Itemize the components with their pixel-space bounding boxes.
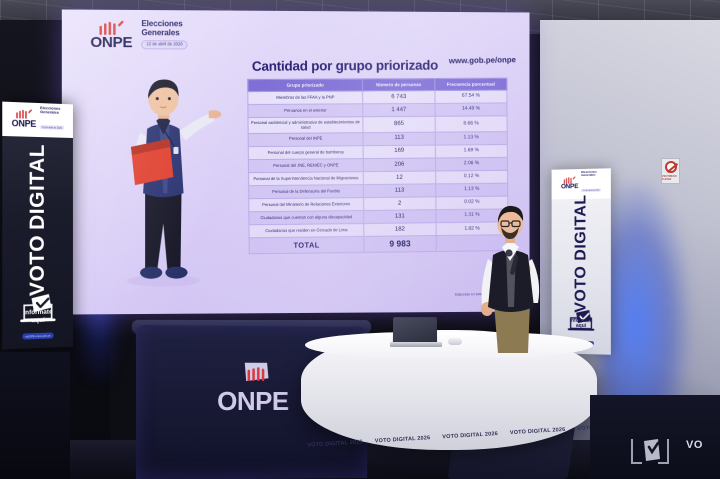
banner-left-vertical-text: VOTO DIGITAL [2,154,73,286]
blue-light-glow-right [600,180,690,420]
banner-left-footer: Infórmate aquí eg2026.onpe.gob.pe [2,308,73,343]
cell-group: Personal del INPE [248,133,363,147]
cell-count: 113 [363,184,436,198]
cell-count: 865 [363,116,436,132]
dark-panel-right: VO [590,395,720,479]
rollup-banner-right: ONPE Elecciones Generales 12 de abril de… [552,168,611,354]
slide-header-date-badge: 12 de abril de 2026 [141,40,187,50]
slide-header-text: Elecciones Generales 12 de abril de 2026 [141,20,187,50]
cell-pct: 2.06 % [435,157,507,171]
ballot-box-icon [628,433,676,467]
cell-count: 206 [363,158,436,172]
no-smoking-sign: PROHIBIDO FUMAR [661,158,680,184]
slide-title: Cantidad por grupo priorizado [252,58,438,74]
banner-left-url: eg2026.onpe.gob.pe [22,332,53,339]
banner-right-wordmark: ONPE [561,184,578,191]
slide-url: www.gob.pe/onpe [449,55,516,65]
banner-right-line2: Generales [581,174,601,178]
no-smoking-label: PROHIBIDO FUMAR [662,175,679,181]
banner-left-cta-line2: aquí [2,316,73,326]
cell-count: 113 [363,132,436,146]
cell-total-label: TOTAL [249,237,364,254]
no-smoking-icon [665,161,677,173]
onpe-worker-illustration [107,72,228,289]
banner-left-word-voto: VOTO [28,235,48,296]
cell-group: Personal del Ministerio de Relaciones Ex… [249,198,364,212]
table-band-text: VOTO DIGITAL 2026 [307,439,363,448]
col-header-count: Número de personas [362,78,434,90]
cell-count: 1 447 [363,103,436,116]
cell-pct: 67.54 % [435,90,507,103]
dark-box-left [0,352,70,479]
onpe-hand-icon [232,362,274,386]
table-band-text: VOTO DIGITAL 2026 [375,435,431,444]
podium-wordmark: ONPE [217,388,288,414]
cell-group: Personal del JNE, RENIEC y ONPE [248,159,363,173]
banner-right-cta-line2: aquí [552,324,611,331]
table-band-text: VOTO DIGITAL 2026 [442,431,498,440]
speaker-person [468,203,554,353]
cell-pct: 8.66 % [435,116,507,132]
cell-count: 2 [363,197,436,211]
cell-group: Personal de la Defensoría del Pueblo [249,185,364,199]
cell-group: Personal asistencial y administrativo de… [248,117,363,133]
banner-right-date: 12 de abril de 2026 [581,189,601,192]
cell-group: Personal del cuerpo general de bomberos [248,146,363,160]
rollup-banner-left: ONPE Elecciones Generales 12 de abril de… [2,102,73,350]
cell-count: 182 [364,223,437,237]
cell-group: Miembros de las FFAA y la PNP [248,91,363,105]
cell-count: 131 [363,210,436,224]
cell-pct: 1.13 % [435,131,507,145]
cell-pct: 14.49 % [435,103,507,116]
scene-root: PROHIBIDO FUMAR ONPE Elecciones Ge [0,0,720,479]
table-band-text: VOTO DIGITAL 2026 [510,427,566,436]
cell-count: 169 [363,145,436,159]
slide-brand-header: ONPE Elecciones Generales 12 de abril de… [90,20,187,51]
banner-left-word-digital: DIGITAL [28,144,48,230]
mouse-device[interactable] [448,338,462,345]
col-header-group: Grupo priorizado [248,79,363,92]
dark-panel-text: VO [686,439,703,451]
banner-left-date: 12 de abril de 2026 [40,125,64,130]
banner-right-vertical-text: VOTO DIGITAL [552,205,611,304]
cell-pct: 0.12 % [436,170,508,184]
cell-group: Ciudadanos que cuentan con alguna discap… [249,211,364,225]
slide-header-line2: Generales [141,29,187,38]
laptop-device[interactable] [390,317,442,349]
banner-left-header: ONPE Elecciones Generales 12 de abril de… [2,102,73,138]
banner-right-word-digital: DIGITAL [574,195,589,261]
banner-left-wordmark: ONPE [12,119,36,129]
onpe-logo: ONPE [90,20,132,50]
banner-left-line2: Generales [40,110,64,115]
cell-pct: 1.13 % [436,183,508,197]
laptop-base [390,342,442,347]
cell-pct: 1.69 % [435,144,507,158]
cell-group: Personal de la Superintendencia Nacional… [248,172,363,186]
banner-right-word-voto: VOTO [574,266,589,313]
cell-count: 6 743 [362,90,435,103]
laptop-lid [393,317,437,343]
col-header-pct: Frecuencia porcentual [435,78,507,90]
cell-group: Peruanos en el exterior [248,104,363,118]
projection-screen: ONPE Elecciones Generales 12 de abril de… [62,9,530,314]
cell-total-count: 9 983 [364,236,437,253]
podium-logo: ONPE [217,362,288,414]
cell-count: 12 [363,171,436,185]
onpe-wordmark: ONPE [90,35,132,50]
